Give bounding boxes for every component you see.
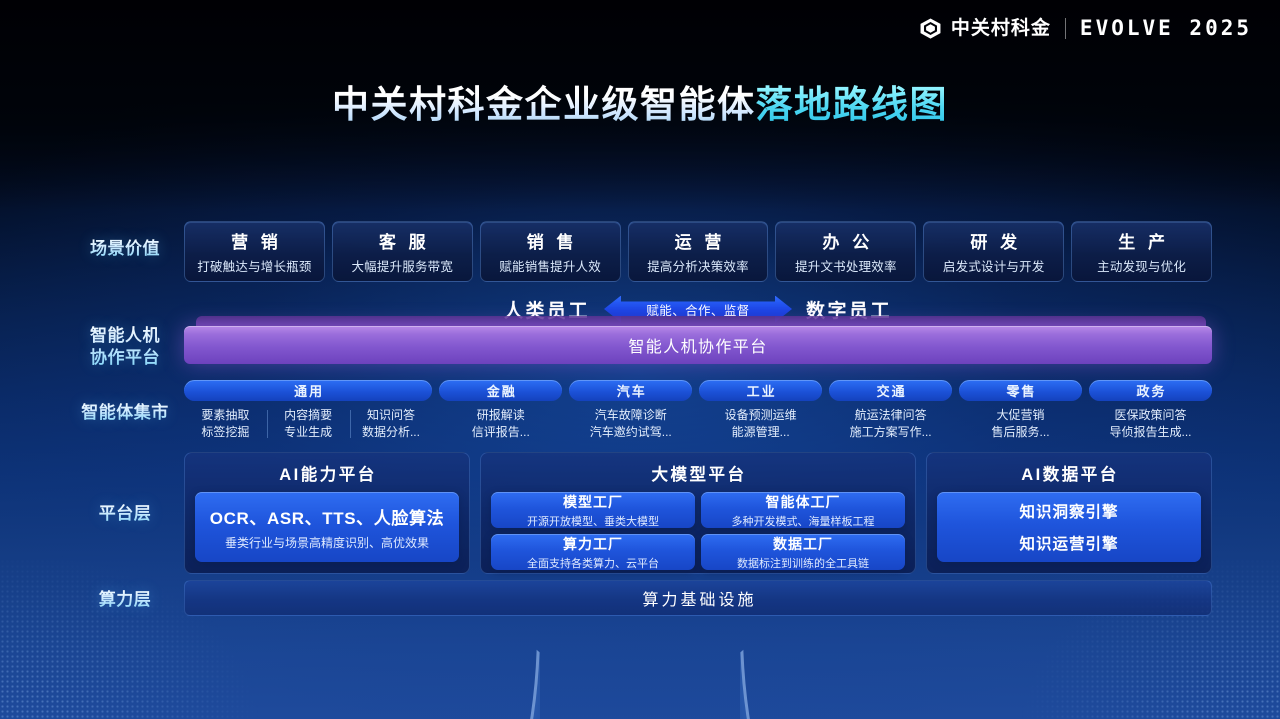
market-column-head: 通用 bbox=[184, 380, 432, 401]
brand-name-cn: 中关村科金 bbox=[951, 19, 1051, 38]
platform-layer-row: AI能力平台 OCR、ASR、TTS、人脸算法 垂类行业与场景高精度识别、高优效… bbox=[184, 452, 1212, 574]
platform-card[interactable]: 模型工厂 开源开放模型、垂类大模型 bbox=[491, 492, 695, 528]
market-column-title: 工业 bbox=[745, 381, 777, 400]
cube-icon bbox=[919, 17, 942, 40]
market-column[interactable]: 金融 研报解读 信评报告... bbox=[439, 380, 562, 442]
scene-card-subtitle: 大幅提升服务带宽 bbox=[351, 256, 453, 275]
row-label-scene-value: 场景价值 bbox=[70, 238, 180, 260]
platform-card-title: 算力工厂 bbox=[563, 534, 623, 554]
market-column-body: 大促营销 售后服务... bbox=[959, 407, 1082, 441]
page-title: 中关村科金企业级智能体落地路线图 bbox=[0, 74, 1280, 128]
big-model-platform: 大模型平台 模型工厂 开源开放模型、垂类大模型 智能体工厂 多种开发模式、海量样… bbox=[480, 452, 916, 574]
market-column-title: 零售 bbox=[1005, 381, 1037, 400]
scene-card-subtitle: 打破触达与增长瓶颈 bbox=[197, 256, 311, 275]
platform-card-subtitle: 全面支持各类算力、云平台 bbox=[527, 555, 659, 571]
scene-card-subtitle: 提高分析决策效率 bbox=[647, 256, 749, 275]
platform-card-title: OCR、ASR、TTS、人脸算法 bbox=[210, 504, 444, 529]
market-column-head: 交通 bbox=[829, 380, 952, 401]
row-label-collab-platform: 智能人机协作平台 bbox=[70, 325, 180, 370]
scene-card[interactable]: 营 销 打破触达与增长瓶颈 bbox=[184, 221, 325, 282]
market-item: 要素抽取 bbox=[186, 407, 265, 424]
market-item: 研报解读 bbox=[441, 407, 560, 424]
market-column[interactable]: 零售 大促营销 售后服务... bbox=[959, 380, 1082, 442]
scene-card-subtitle: 主动发现与优化 bbox=[1097, 256, 1186, 275]
collaboration-platform-label: 智能人机协作平台 bbox=[628, 333, 767, 357]
row-label-collab-line2: 协作平台 bbox=[90, 348, 160, 367]
compute-infrastructure-label: 算力基础设施 bbox=[639, 586, 756, 610]
market-item: 导侦报告生成... bbox=[1091, 424, 1210, 441]
market-item: 能源管理... bbox=[701, 424, 820, 441]
platform-card-title: 数据工厂 bbox=[773, 534, 833, 554]
market-item: 售后服务... bbox=[961, 424, 1080, 441]
page-title-cyan: 落地路线图 bbox=[756, 84, 949, 125]
market-column-head: 零售 bbox=[959, 380, 1082, 401]
agent-market-row: 通用 要素抽取 标签挖掘 内容摘要 专业生成 知识问答 数据分析... 金融 bbox=[184, 380, 1212, 442]
scene-card-title: 运 营 bbox=[671, 228, 726, 253]
market-item: 内容摘要 bbox=[269, 407, 348, 424]
ai-capability-title: AI能力平台 bbox=[277, 461, 377, 485]
platform-card[interactable]: 数据工厂 数据标注到训练的全工具链 bbox=[701, 534, 905, 570]
market-item: 信评报告... bbox=[441, 424, 560, 441]
top-bar: 中关村科金 EVOLVE 2025 bbox=[0, 0, 1280, 62]
market-item: 医保政策问答 bbox=[1091, 407, 1210, 424]
platform-card[interactable]: 知识洞察引擎 知识运营引擎 bbox=[937, 492, 1201, 562]
platform-card-subtitle: 数据标注到训练的全工具链 bbox=[737, 555, 869, 571]
market-item: 设备预测运维 bbox=[701, 407, 820, 424]
market-column[interactable]: 政务 医保政策问答 导侦报告生成... bbox=[1089, 380, 1212, 442]
scene-card-title: 生 产 bbox=[1114, 228, 1169, 253]
market-item-group: 医保政策问答 导侦报告生成... bbox=[1089, 407, 1212, 441]
scene-card-subtitle: 提升文书处理效率 bbox=[795, 256, 897, 275]
platform-card[interactable]: OCR、ASR、TTS、人脸算法 垂类行业与场景高精度识别、高优效果 bbox=[195, 492, 459, 562]
ai-capability-platform: AI能力平台 OCR、ASR、TTS、人脸算法 垂类行业与场景高精度识别、高优效… bbox=[184, 452, 470, 574]
market-item-group: 研报解读 信评报告... bbox=[439, 407, 562, 441]
market-column-head: 汽车 bbox=[569, 380, 692, 401]
platform-card-subtitle: 垂类行业与场景高精度识别、高优效果 bbox=[225, 534, 429, 551]
platform-card-title: 智能体工厂 bbox=[766, 492, 841, 512]
big-model-title: 大模型平台 bbox=[650, 461, 747, 485]
market-item-group: 航运法律问答 施工方案写作... bbox=[829, 407, 952, 441]
market-column-body: 设备预测运维 能源管理... bbox=[699, 407, 822, 441]
market-item-group: 设备预测运维 能源管理... bbox=[699, 407, 822, 441]
market-item-group: 大促营销 售后服务... bbox=[959, 407, 1082, 441]
scene-card-title: 客 服 bbox=[375, 228, 430, 253]
market-column-body: 研报解读 信评报告... bbox=[439, 407, 562, 441]
market-item: 航运法律问答 bbox=[831, 407, 950, 424]
page-title-white: 中关村科金企业级智能体 bbox=[332, 84, 756, 125]
scene-card[interactable]: 办 公 提升文书处理效率 bbox=[775, 221, 916, 282]
platform-card-subtitle: 开源开放模型、垂类大模型 bbox=[527, 513, 659, 529]
scene-card[interactable]: 生 产 主动发现与优化 bbox=[1071, 221, 1212, 282]
market-item: 专业生成 bbox=[269, 424, 348, 441]
brand-separator bbox=[1065, 18, 1066, 39]
ai-data-title: AI数据平台 bbox=[1019, 461, 1119, 485]
platform-card[interactable]: 算力工厂 全面支持各类算力、云平台 bbox=[491, 534, 695, 570]
scene-card[interactable]: 运 营 提高分析决策效率 bbox=[628, 221, 769, 282]
market-item: 汽车故障诊断 bbox=[571, 407, 690, 424]
platform-card-line1: 知识洞察引擎 bbox=[1019, 500, 1118, 522]
market-item-group: 知识问答 数据分析... bbox=[350, 407, 433, 441]
market-column[interactable]: 汽车 汽车故障诊断 汽车邀约试驾... bbox=[569, 380, 692, 442]
market-column-title: 通用 bbox=[292, 381, 324, 400]
market-item: 施工方案写作... bbox=[831, 424, 950, 441]
scene-card[interactable]: 销 售 赋能销售提升人效 bbox=[480, 221, 621, 282]
brand-lockup: 中关村科金 EVOLVE 2025 bbox=[919, 17, 1252, 40]
market-column-title: 汽车 bbox=[615, 381, 647, 400]
row-label-platform-layer: 平台层 bbox=[70, 503, 180, 525]
market-column-head: 金融 bbox=[439, 380, 562, 401]
event-name: EVOLVE 2025 bbox=[1080, 18, 1252, 39]
compute-infrastructure-bar[interactable]: 算力基础设施 bbox=[184, 580, 1212, 616]
market-column-head: 政务 bbox=[1089, 380, 1212, 401]
scene-card-subtitle: 赋能销售提升人效 bbox=[499, 256, 601, 275]
scene-card[interactable]: 客 服 大幅提升服务带宽 bbox=[332, 221, 473, 282]
scene-card-title: 研 发 bbox=[966, 228, 1021, 253]
market-item: 汽车邀约试驾... bbox=[571, 424, 690, 441]
market-item-group: 汽车故障诊断 汽车邀约试驾... bbox=[569, 407, 692, 441]
market-column-title: 政务 bbox=[1134, 381, 1166, 400]
market-column-body: 汽车故障诊断 汽车邀约试驾... bbox=[569, 407, 692, 441]
scene-value-row: 营 销 打破触达与增长瓶颈 客 服 大幅提升服务带宽 销 售 赋能销售提升人效 … bbox=[184, 221, 1212, 282]
scene-card-title: 营 销 bbox=[227, 228, 282, 253]
market-column[interactable]: 交通 航运法律问答 施工方案写作... bbox=[829, 380, 952, 442]
ai-data-platform: AI数据平台 知识洞察引擎 知识运营引擎 bbox=[926, 452, 1212, 574]
market-column[interactable]: 通用 要素抽取 标签挖掘 内容摘要 专业生成 知识问答 数据分析... bbox=[184, 380, 432, 442]
market-column-body: 医保政策问答 导侦报告生成... bbox=[1089, 407, 1212, 441]
row-label-compute-layer: 算力层 bbox=[70, 589, 180, 611]
market-item-group: 内容摘要 专业生成 bbox=[267, 407, 350, 441]
platform-card[interactable]: 智能体工厂 多种开发模式、海量样板工程 bbox=[701, 492, 905, 528]
scene-card-title: 办 公 bbox=[819, 228, 874, 253]
market-column-body: 航运法律问答 施工方案写作... bbox=[829, 407, 952, 441]
market-column-body: 要素抽取 标签挖掘 内容摘要 专业生成 知识问答 数据分析... bbox=[184, 407, 432, 441]
market-item: 标签挖掘 bbox=[186, 424, 265, 441]
market-item-group: 要素抽取 标签挖掘 bbox=[184, 407, 267, 441]
scene-card[interactable]: 研 发 启发式设计与开发 bbox=[923, 221, 1064, 282]
scene-card-title: 销 售 bbox=[523, 228, 578, 253]
market-column[interactable]: 工业 设备预测运维 能源管理... bbox=[699, 380, 822, 442]
market-item: 大促营销 bbox=[961, 407, 1080, 424]
platform-card-title: 模型工厂 bbox=[563, 492, 623, 512]
market-item: 数据分析... bbox=[352, 424, 431, 441]
company-logo: 中关村科金 bbox=[919, 17, 1051, 40]
row-label-agent-market: 智能体集市 bbox=[60, 402, 190, 424]
market-column-head: 工业 bbox=[699, 380, 822, 401]
big-model-card-grid: 模型工厂 开源开放模型、垂类大模型 智能体工厂 多种开发模式、海量样板工程 算力… bbox=[491, 492, 905, 570]
market-column-title: 金融 bbox=[485, 381, 517, 400]
market-column-title: 交通 bbox=[875, 381, 907, 400]
row-label-collab-line1: 智能人机 bbox=[90, 326, 160, 345]
scene-card-subtitle: 启发式设计与开发 bbox=[943, 256, 1045, 275]
platform-card-line2: 知识运营引擎 bbox=[1019, 532, 1118, 554]
collaboration-platform-bar[interactable]: 智能人机协作平台 bbox=[184, 326, 1212, 364]
market-item: 知识问答 bbox=[352, 407, 431, 424]
platform-card-subtitle: 多种开发模式、海量样板工程 bbox=[732, 513, 875, 529]
